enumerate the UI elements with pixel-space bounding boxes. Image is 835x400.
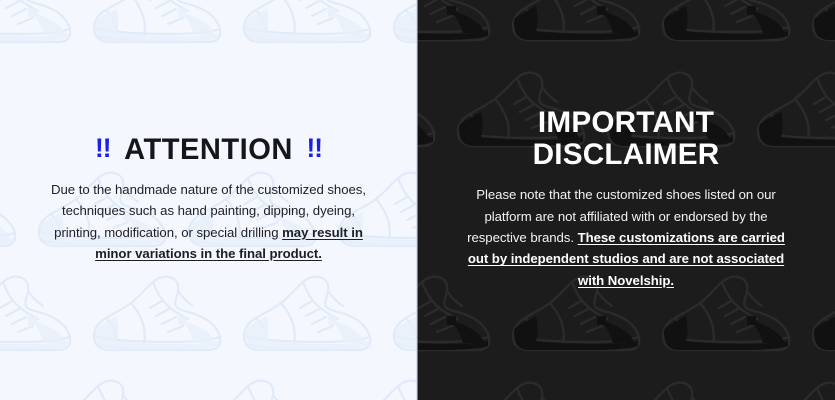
- disclaimer-heading-line-1: IMPORTANT: [463, 107, 790, 139]
- attention-content: !!ATTENTION!! Due to the handmade nature…: [0, 134, 417, 265]
- disclaimer-heading-line-2: DISCLAIMER: [463, 139, 790, 171]
- disclaimer-heading: IMPORTANT DISCLAIMER: [463, 107, 790, 171]
- disclaimer-panel: IMPORTANT DISCLAIMER Please note that th…: [417, 0, 835, 400]
- exclamation-left-icon: !!: [95, 134, 111, 162]
- disclaimer-content: IMPORTANT DISCLAIMER Please note that th…: [417, 107, 835, 291]
- attention-panel: !!ATTENTION!! Due to the handmade nature…: [0, 0, 417, 400]
- attention-heading-text: ATTENTION: [124, 133, 293, 166]
- exclamation-right-icon: !!: [306, 134, 322, 162]
- disclaimer-banner: !!ATTENTION!! Due to the handmade nature…: [0, 0, 835, 400]
- attention-body: Due to the handmade nature of the custom…: [48, 179, 369, 265]
- attention-heading: !!ATTENTION!!: [53, 134, 364, 166]
- disclaimer-body: Please note that the customized shoes li…: [461, 184, 791, 291]
